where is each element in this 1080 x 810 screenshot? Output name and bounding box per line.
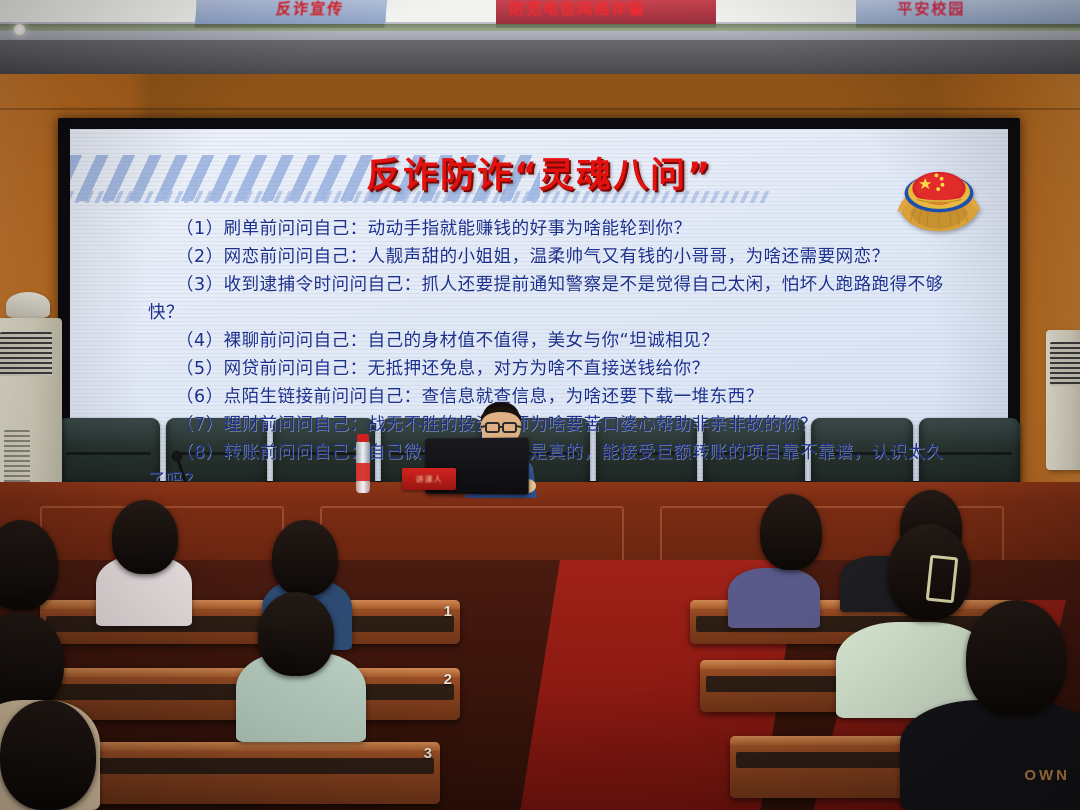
slide-item: （8）转账前问问自己：自己微信里的人是不是真的，能接受巨额转账的项目靠不靠谱，认…	[148, 439, 948, 481]
slide-item: （5）网贷前问问自己：无抵押还免息，对方为啥不直接送钱给你？	[148, 355, 948, 383]
slide-item: （7）理财前问问自己：战无不胜的投资大师为啥要苦口婆心帮助非亲非故的你？	[148, 411, 948, 439]
audience-member-torso	[728, 568, 820, 628]
banner-text: 反诈宣传	[275, 0, 345, 19]
audience-member-head	[272, 520, 338, 596]
shirt-print-text: OWN	[1024, 767, 1070, 784]
air-conditioner-right	[1046, 330, 1080, 470]
fan-icon	[6, 292, 50, 318]
slide-item: （1）刷单前问问自己：动动手指就能赚钱的好事为啥能轮到你？	[148, 215, 948, 243]
conference-hall-photo: 反诈宣传 防范电信网络诈骗 平安校园 反诈防诈“灵魂八问”	[0, 0, 1080, 810]
bottle-cap	[357, 434, 369, 442]
banner-text: 平安校园	[897, 0, 965, 19]
air-conditioner-left	[0, 318, 62, 500]
audience-member-head	[258, 592, 334, 676]
stage-chair	[58, 418, 160, 492]
slide-item: （3）收到逮捕令时问问自己：抓人还要提前通知警察是不是觉得自己太闲，怕坏人跑路跑…	[148, 271, 948, 327]
audience-member-torso	[900, 700, 1080, 810]
bottle-label	[356, 463, 370, 481]
hair-clip-icon	[926, 555, 959, 604]
water-bottle	[356, 441, 370, 493]
audience-member-head	[0, 700, 96, 810]
ceiling-gap	[0, 0, 196, 22]
ceiling-light-strip	[0, 24, 1080, 31]
ac-vent	[1050, 342, 1080, 386]
row-number: 2	[444, 671, 452, 688]
nameplate-text: 讲课人	[416, 474, 443, 485]
china-police-badge-icon	[896, 159, 982, 233]
row-number: 3	[424, 745, 432, 762]
ac-lower-vent	[4, 430, 30, 484]
slide-item: （6）点陌生链接前问问自己：查信息就查信息，为啥还要下载一堆东西？	[148, 383, 948, 411]
ac-vent	[0, 332, 52, 376]
slide-item: （2）网恋前问问自己：人靓声甜的小姐姐，温柔帅气又有钱的小哥哥，为啥还需要网恋？	[148, 243, 948, 271]
audience-member-head	[112, 500, 178, 574]
wall-seam	[0, 108, 1080, 110]
audience-member-head	[760, 494, 822, 570]
ceiling-spotlight-icon	[14, 24, 25, 35]
slide-title: 反诈防诈“灵魂八问”	[70, 147, 1008, 198]
slide-item: （4）裸聊前问问自己：自己的身材值不值得，美女与你“坦诚相见？	[148, 327, 948, 355]
ceiling-gap	[716, 0, 856, 22]
banner-text: 防范电信网络诈骗	[509, 0, 645, 19]
slide-body: （1）刷单前问问自己：动动手指就能赚钱的好事为啥能轮到你？ （2）网恋前问问自己…	[148, 215, 948, 481]
ceiling-gap	[386, 0, 496, 22]
nameplate: 讲课人	[402, 468, 456, 490]
wall-upper-band	[0, 40, 1080, 74]
audience-member-head	[966, 600, 1066, 716]
row-number: 1	[444, 603, 452, 620]
